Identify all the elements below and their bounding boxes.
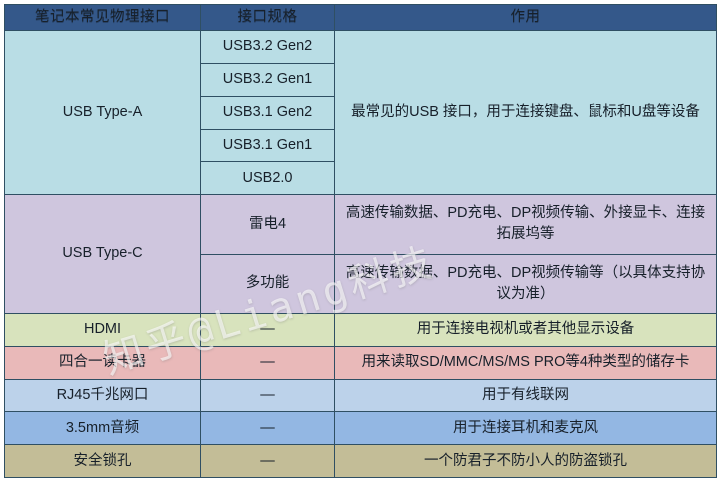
port-spec: —	[201, 313, 335, 346]
port-function: 用来读取SD/MMC/MS/MS PRO等4种类型的储存卡	[335, 346, 717, 379]
table-row: HDMI — 用于连接电视机或者其他显示设备	[5, 313, 717, 346]
table-body: USB Type-A USB3.2 Gen2 最常见的USB 接口，用于连接键盘…	[5, 31, 717, 478]
port-function: 高速传输数据、PD充电、DP视频传输、外接显卡、连接拓展坞等	[335, 195, 717, 254]
port-name-hdmi: HDMI	[5, 313, 201, 346]
port-spec: USB3.1 Gen2	[201, 96, 335, 129]
table-row: 四合一读卡器 — 用来读取SD/MMC/MS/MS PRO等4种类型的储存卡	[5, 346, 717, 379]
table-row: USB Type-A USB3.2 Gen2 最常见的USB 接口，用于连接键盘…	[5, 31, 717, 64]
port-spec: USB2.0	[201, 162, 335, 195]
port-function: 用于连接电视机或者其他显示设备	[335, 313, 717, 346]
port-name-audio-jack: 3.5mm音频	[5, 412, 201, 445]
table-header: 笔记本常见物理接口 接口规格 作用	[5, 5, 717, 31]
port-spec: USB3.2 Gen2	[201, 31, 335, 64]
table-row: USB Type-C 雷电4 高速传输数据、PD充电、DP视频传输、外接显卡、连…	[5, 195, 717, 254]
port-spec: —	[201, 346, 335, 379]
port-function: 高速传输数据、PD充电、DP视频传输等（以具体支持协议为准）	[335, 254, 717, 313]
table-row: 安全锁孔 — 一个防君子不防小人的防盗锁孔	[5, 445, 717, 478]
port-table-container: 笔记本常见物理接口 接口规格 作用 USB Type-A USB3.2 Gen2…	[0, 0, 720, 484]
header-port-name: 笔记本常见物理接口	[5, 5, 201, 31]
port-spec: 雷电4	[201, 195, 335, 254]
header-port-spec: 接口规格	[201, 5, 335, 31]
port-spec: —	[201, 412, 335, 445]
port-spec: 多功能	[201, 254, 335, 313]
port-name-usb-type-a: USB Type-A	[5, 31, 201, 195]
header-port-function: 作用	[335, 5, 717, 31]
port-spec: USB3.2 Gen1	[201, 63, 335, 96]
port-name-rj45: RJ45千兆网口	[5, 379, 201, 412]
port-spec: USB3.1 Gen1	[201, 129, 335, 162]
header-row: 笔记本常见物理接口 接口规格 作用	[5, 5, 717, 31]
port-name-card-reader: 四合一读卡器	[5, 346, 201, 379]
port-spec: —	[201, 445, 335, 478]
port-spec: —	[201, 379, 335, 412]
laptop-port-table: 笔记本常见物理接口 接口规格 作用 USB Type-A USB3.2 Gen2…	[4, 4, 717, 478]
port-function: 一个防君子不防小人的防盗锁孔	[335, 445, 717, 478]
port-name-usb-type-c: USB Type-C	[5, 195, 201, 314]
table-row: RJ45千兆网口 — 用于有线联网	[5, 379, 717, 412]
port-function: 用于有线联网	[335, 379, 717, 412]
port-name-security-lock: 安全锁孔	[5, 445, 201, 478]
port-function: 用于连接耳机和麦克风	[335, 412, 717, 445]
port-function-usb-type-a: 最常见的USB 接口，用于连接键盘、鼠标和U盘等设备	[335, 31, 717, 195]
table-row: 3.5mm音频 — 用于连接耳机和麦克风	[5, 412, 717, 445]
